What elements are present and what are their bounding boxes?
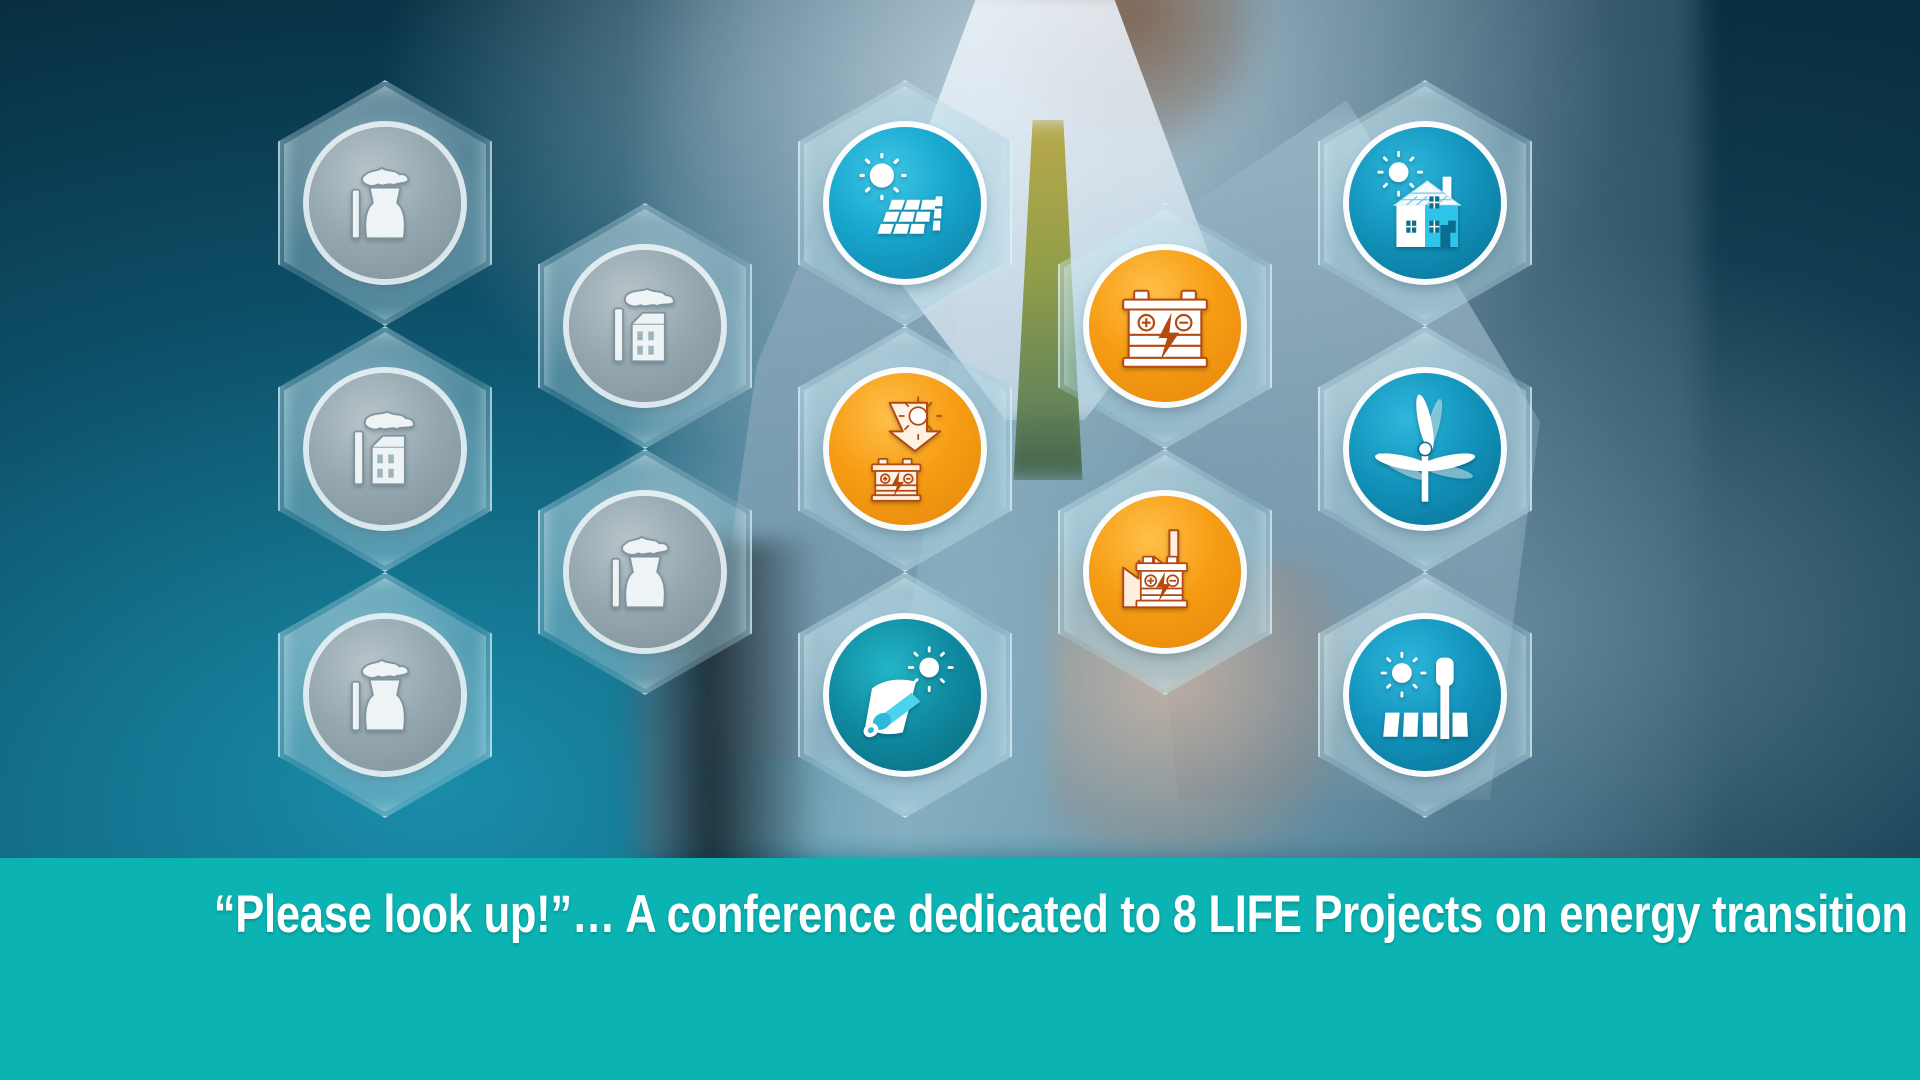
caption-text: “Please look up!”… A conference dedicate… <box>214 886 1706 943</box>
hex-tile-nuclear-1[interactable] <box>278 80 492 326</box>
hex-tile-solar-panels[interactable] <box>798 80 1012 326</box>
hex-tile-wind-turbine[interactable] <box>1318 326 1532 572</box>
hex-tile-solar-farm[interactable] <box>1318 572 1532 818</box>
hex-tile-nuclear-3[interactable] <box>278 572 492 818</box>
hex-tile-coal-1[interactable] <box>538 203 752 449</box>
wind-turbine-icon[interactable] <box>1349 373 1501 525</box>
solar-charged-battery-icon[interactable] <box>829 373 981 525</box>
hex-tile-coal-2[interactable] <box>538 449 752 695</box>
banner-image: “Please look up!”… A conference dedicate… <box>0 0 1920 1080</box>
hex-tile-solar-battery[interactable] <box>798 326 1012 572</box>
solar-farm-icon[interactable] <box>1349 619 1501 771</box>
hex-tile-nuclear-2[interactable] <box>278 326 492 572</box>
caption-bar: “Please look up!”… A conference dedicate… <box>0 858 1920 1080</box>
nuclear-cooling-tower-icon[interactable] <box>569 496 721 648</box>
storage-battery-icon[interactable] <box>1089 250 1241 402</box>
factory-battery-storage-icon[interactable] <box>1089 496 1241 648</box>
solar-panel-array-icon[interactable] <box>829 127 981 279</box>
solar-house-icon[interactable] <box>1349 127 1501 279</box>
solar-thermal-collector-icon[interactable] <box>829 619 981 771</box>
coal-power-plant-icon[interactable] <box>569 250 721 402</box>
nuclear-cooling-tower-icon[interactable] <box>309 619 461 771</box>
hex-tile-battery[interactable] <box>1058 203 1272 449</box>
hex-tile-factory-battery[interactable] <box>1058 449 1272 695</box>
hex-tile-solar-collector[interactable] <box>798 572 1012 818</box>
coal-power-plant-icon[interactable] <box>309 373 461 525</box>
hex-tile-solar-house[interactable] <box>1318 80 1532 326</box>
nuclear-cooling-tower-icon[interactable] <box>309 127 461 279</box>
